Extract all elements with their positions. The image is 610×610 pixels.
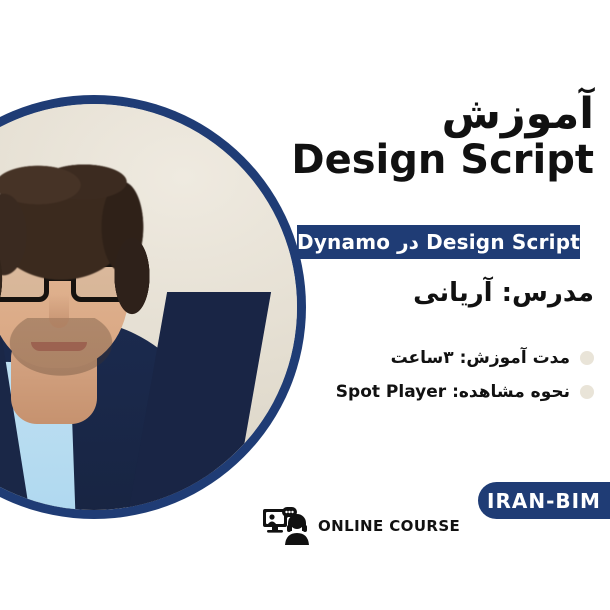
instructor-line: مدرس: آریانی [264,278,594,308]
bullet-dot-icon [580,351,594,365]
portrait-mouth [31,342,87,351]
subject-badge-label: Design Script در Dynamo [297,230,580,254]
page-title: آموزش Design Script [264,92,594,182]
course-details-list: مدت آموزش: ۳ساعت نحوه مشاهده: Spot Playe… [254,348,594,416]
brand-badge: IRAN-BIM [478,482,610,519]
avatar [0,104,297,510]
monitor-headset-person-icon [262,506,314,546]
subject-badge: Design Script در Dynamo [297,225,580,259]
course-poster: آموزش Design Script Design Script در Dyn… [0,0,610,610]
brand-badge-label: IRAN-BIM [487,489,601,513]
title-farsi: آموزش [264,92,594,137]
list-item: مدت آموزش: ۳ساعت [254,348,594,368]
portrait-hair-right [107,222,157,330]
title-english: Design Script [264,139,594,182]
detail-duration: مدت آموزش: ۳ساعت [391,348,570,368]
detail-platform: نحوه مشاهده: Spot Player [336,382,570,402]
portrait-ring [0,95,306,519]
online-course-logo: ONLINE COURSE [262,506,460,546]
list-item: نحوه مشاهده: Spot Player [254,382,594,402]
online-course-label: ONLINE COURSE [318,517,460,535]
bullet-dot-icon [580,385,594,399]
